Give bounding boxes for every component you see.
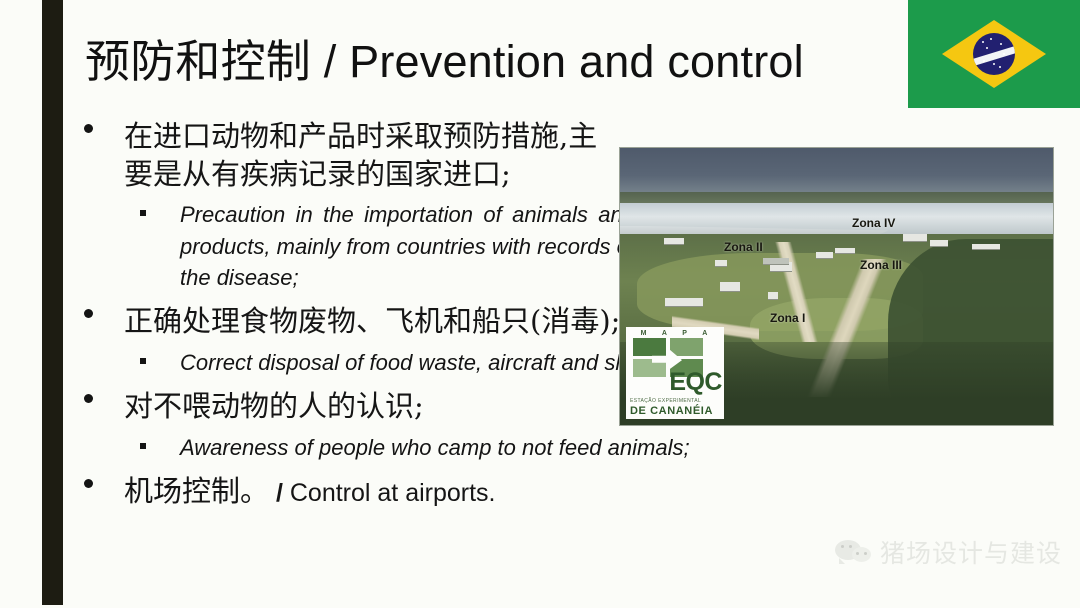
flag-band [973, 42, 1015, 69]
photo-label-zona-ii: Zona II [724, 240, 763, 254]
bullet-text-2: 正确处理食物废物、飞机和船只(消毒); [124, 303, 624, 341]
sub-bullet-item-3: Awareness of people who camp to not feed… [72, 432, 1032, 463]
bullet-dot-icon [84, 124, 93, 133]
watermark: 猪场设计与建设 [835, 534, 1062, 570]
sub-bullet-square-icon [140, 443, 146, 449]
bullet-dot-icon [84, 479, 93, 488]
bullet-text-4-separator: / [269, 479, 290, 507]
logo-letter-p: P [682, 330, 689, 337]
photo-label-zona-iv: Zona IV [852, 216, 895, 230]
page-title-separator: / [311, 36, 349, 87]
sub-bullet-square-icon [140, 210, 146, 216]
sub-bullet-text-3: Awareness of people who camp to not feed… [180, 432, 970, 463]
logo-mapa-letters: M A P A [630, 330, 720, 337]
page-title: 预防和控制 / Prevention and control [85, 38, 804, 85]
bullet-text-1: 在进口动物和产品时采取预防措施,主要是从有疾病记录的国家进口; [124, 118, 624, 193]
watermark-text: 猪场设计与建设 [880, 534, 1062, 570]
bullet-dot-icon [84, 394, 93, 403]
bullet-text-4-chinese: 机场控制。 [124, 474, 269, 508]
logo-subtitle-small: ESTAÇÃO EXPERIMENTAL [630, 398, 701, 404]
bullet-text-4-english: Control at airports. [290, 479, 496, 507]
logo-letter-a2: A [702, 330, 709, 337]
photo-label-zona-i: Zona I [770, 311, 805, 325]
page-title-chinese: 预防和控制 [85, 35, 311, 88]
logo-letter-a1: A [662, 330, 669, 337]
left-accent-bar [42, 0, 63, 605]
sub-bullet-square-icon [140, 358, 146, 364]
flag-globe [973, 33, 1015, 75]
bullet-text-4: 机场控制。 / Control at airports. [124, 473, 824, 511]
aerial-photo: Zona IV Zona II Zona III Zona I M A P A … [620, 148, 1053, 425]
mapa-eqc-logo: M A P A EQC ESTAÇÃO EXPERIMENTAL DE CANA… [626, 327, 724, 419]
logo-subtitle: DE CANANÉIA [630, 405, 713, 417]
bullet-dot-icon [84, 309, 93, 318]
page-title-english: Prevention and control [349, 36, 804, 87]
photo-label-zona-iii: Zona III [860, 258, 902, 272]
logo-letter-m: M [641, 330, 649, 337]
logo-acronym: EQC [669, 370, 722, 395]
sub-bullet-text-1: Precaution in the importation of animals… [180, 199, 635, 293]
brazil-flag-icon [908, 0, 1080, 108]
slide-root: 预防和控制 / Prevention and control 在进口动物和产品时… [0, 0, 1080, 608]
bullet-item-4: 机场控制。 / Control at airports. [72, 473, 1032, 511]
wechat-icon [835, 538, 871, 566]
